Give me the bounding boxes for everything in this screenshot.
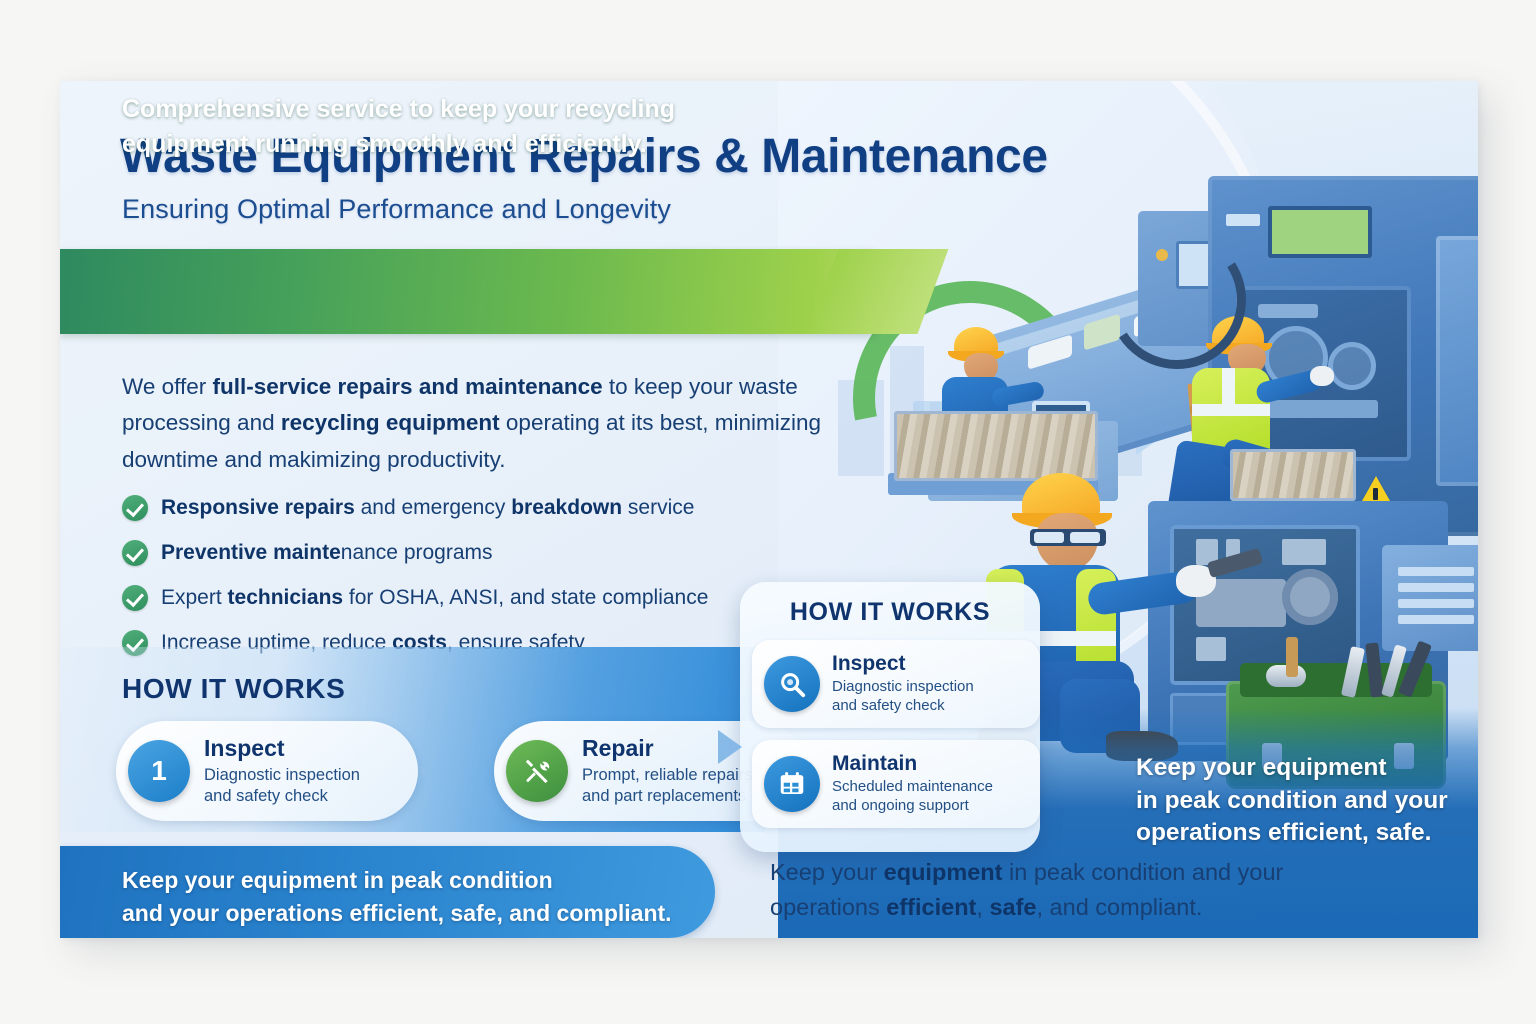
page-subtitle: Ensuring Optimal Performance and Longevi… [122, 194, 671, 225]
component-block [1282, 539, 1326, 565]
panel-step-desc-line-1: Diagnostic inspection [832, 678, 974, 697]
emphasis-text: Responsive repairs [161, 496, 355, 519]
tool-handle [1286, 637, 1298, 677]
step-desc-line-1: Diagnostic inspection [204, 765, 360, 786]
bottom-summary-text: Keep your equipment in peak condition an… [770, 855, 1370, 926]
step-desc-line-2: and safety check [204, 786, 360, 807]
recycling-bale [894, 411, 1098, 481]
benefit-list-item: Expert technicians for OSHA, ANSI, and s… [122, 575, 822, 620]
pulley-component [1282, 569, 1338, 625]
step-desc-line-1: Prompt, reliable repairs [582, 765, 753, 786]
panel-card-inspect[interactable]: Inspect Diagnostic inspection and safety… [752, 640, 1040, 728]
panel-step-desc-line-2: and ongoing support [832, 797, 993, 816]
emphasis-text: breakdown [511, 496, 622, 519]
baler-access-door [1436, 236, 1478, 486]
cta-line-2: and your operations efficient, safe, and… [122, 897, 672, 930]
panel-step-desc-line-1: Scheduled maintenance [832, 778, 993, 797]
cabinet-side-vent-box [1382, 545, 1478, 651]
cta-line-1: Keep your equipment in peak condition [122, 864, 672, 897]
check-circle-icon [122, 540, 148, 566]
panel-card-maintain[interactable]: Maintain Scheduled maintenance and ongoi… [752, 740, 1040, 828]
body-text: , and compliant. [1037, 894, 1203, 920]
calendar-icon [764, 756, 820, 812]
green-banner-line-2: equipment running smoothly and efficient… [122, 127, 675, 162]
gear-icon [1328, 342, 1376, 390]
body-text: Keep your [770, 859, 884, 885]
panel-heading: HOW IT WORKS [740, 598, 1040, 627]
emphasis-text: safe [989, 894, 1036, 920]
benefit-text: Responsive repairs and emergency breakdo… [161, 496, 694, 520]
step-badge-number: 1 [151, 755, 167, 787]
panel-step-name: Maintain [832, 752, 993, 775]
photo-overlay-cta-text: Keep your equipment in peak condition an… [1136, 752, 1466, 850]
vest-reflective-stripe [1222, 368, 1235, 404]
body-text: for OSHA, ANSI, and state compliance [343, 586, 708, 609]
check-circle-icon [122, 585, 148, 611]
baler-vent [1226, 214, 1260, 226]
green-banner-line-1: Comprehensive service to keep your recyc… [122, 92, 675, 127]
how-it-works-heading: HOW IT WORKS [122, 673, 345, 705]
emphasis-text: Preventive mainte [161, 541, 341, 564]
check-circle-icon [122, 495, 148, 521]
body-text: We offer [122, 374, 212, 399]
photo-cta-line-2: in peak condition and your [1136, 785, 1466, 818]
poster-stage: Keep your equipment in peak condition an… [0, 0, 1536, 1024]
benefit-list-item: Responsive repairs and emergency breakdo… [122, 485, 822, 530]
body-text: service [622, 496, 694, 519]
benefits-list: Responsive repairs and emergency breakdo… [122, 485, 822, 665]
recycling-bale [1230, 449, 1356, 501]
step-desc-line-2: and part replacements [582, 786, 753, 807]
emphasis-text: technicians [228, 586, 344, 609]
benefit-list-item: Preventive maintenance programs [122, 530, 822, 575]
green-banner-text: Comprehensive service to keep your recyc… [122, 92, 675, 161]
body-text: Expert [161, 586, 228, 609]
panel-chevron-icon [718, 730, 742, 764]
panel-step-name: Inspect [832, 652, 974, 675]
body-text: , [976, 894, 989, 920]
emphasis-text: recycling equipment [281, 410, 500, 435]
benefit-text: Preventive maintenance programs [161, 541, 493, 565]
emphasis-text: efficient [886, 894, 976, 920]
safety-goggles [1030, 529, 1106, 546]
photo-cta-line-3: operations efficient, safe. [1136, 817, 1466, 850]
body-text: nance programs [341, 541, 493, 564]
body-text: and emergency [355, 496, 511, 519]
work-glove [1310, 366, 1334, 386]
cta-banner-text: Keep your equipment in peak condition an… [122, 864, 672, 929]
baler-display-screen [1268, 206, 1372, 258]
magnifier-icon [764, 656, 820, 712]
vest-reflective-stripe [1192, 404, 1270, 416]
infographic-card: Keep your equipment in peak condition an… [60, 81, 1478, 938]
emphasis-text: equipment [884, 859, 1003, 885]
emphasis-text: full-service repairs and maintenance [212, 374, 602, 399]
benefit-text: Expert technicians for OSHA, ANSI, and s… [161, 586, 708, 610]
step-name: Inspect [204, 736, 360, 761]
panel-step-desc-line-2: and safety check [832, 697, 974, 716]
step-card-inspect[interactable]: 1 Inspect Diagnostic inspection and safe… [116, 721, 418, 821]
magnifier-number-one-icon: 1 [128, 740, 190, 802]
wrench-screwdriver-icon [506, 740, 568, 802]
how-it-works-panel: HOW IT WORKS Inspect Diagnostic inspecti… [740, 582, 1040, 852]
intro-paragraph: We offer full-service repairs and mainte… [122, 369, 842, 478]
green-highlight-banner [60, 249, 875, 334]
photo-cta-line-1: Keep your equipment [1136, 752, 1466, 785]
